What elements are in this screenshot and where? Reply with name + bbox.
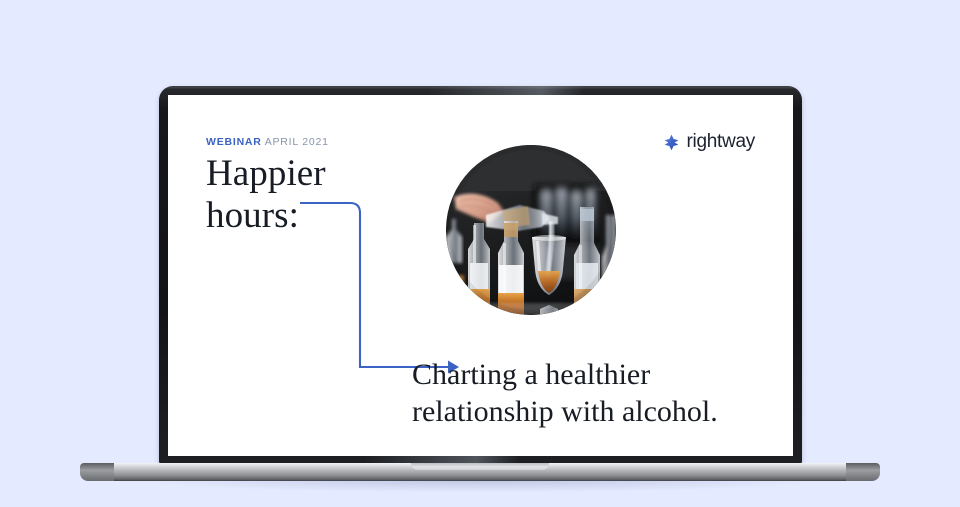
- base-shadow: [135, 480, 825, 492]
- laptop-screen: WEBINARAPRIL 2021 rightway: [168, 95, 793, 456]
- slide-tagline: Charting a healthier relationship with a…: [412, 357, 772, 431]
- eyebrow-date-text: APRIL 2021: [265, 136, 329, 148]
- base-left-cap: [80, 463, 114, 481]
- whisky-pour-photo: [446, 145, 616, 315]
- base-notch: [411, 463, 549, 470]
- presentation-slide: WEBINARAPRIL 2021 rightway: [168, 95, 793, 456]
- slide-header: WEBINARAPRIL 2021 rightway: [206, 131, 755, 153]
- rightway-logo: rightway: [663, 131, 755, 153]
- base-right-cap: [846, 463, 880, 481]
- photo-artwork: [446, 145, 616, 315]
- plus-icon: [663, 134, 680, 151]
- eyebrow-label: WEBINARAPRIL 2021: [206, 136, 329, 148]
- logo-wordmark: rightway: [687, 131, 755, 153]
- eyebrow-webinar-text: WEBINAR: [206, 136, 262, 148]
- laptop-base: [80, 463, 880, 487]
- laptop-mockup: WEBINARAPRIL 2021 rightway: [0, 0, 960, 507]
